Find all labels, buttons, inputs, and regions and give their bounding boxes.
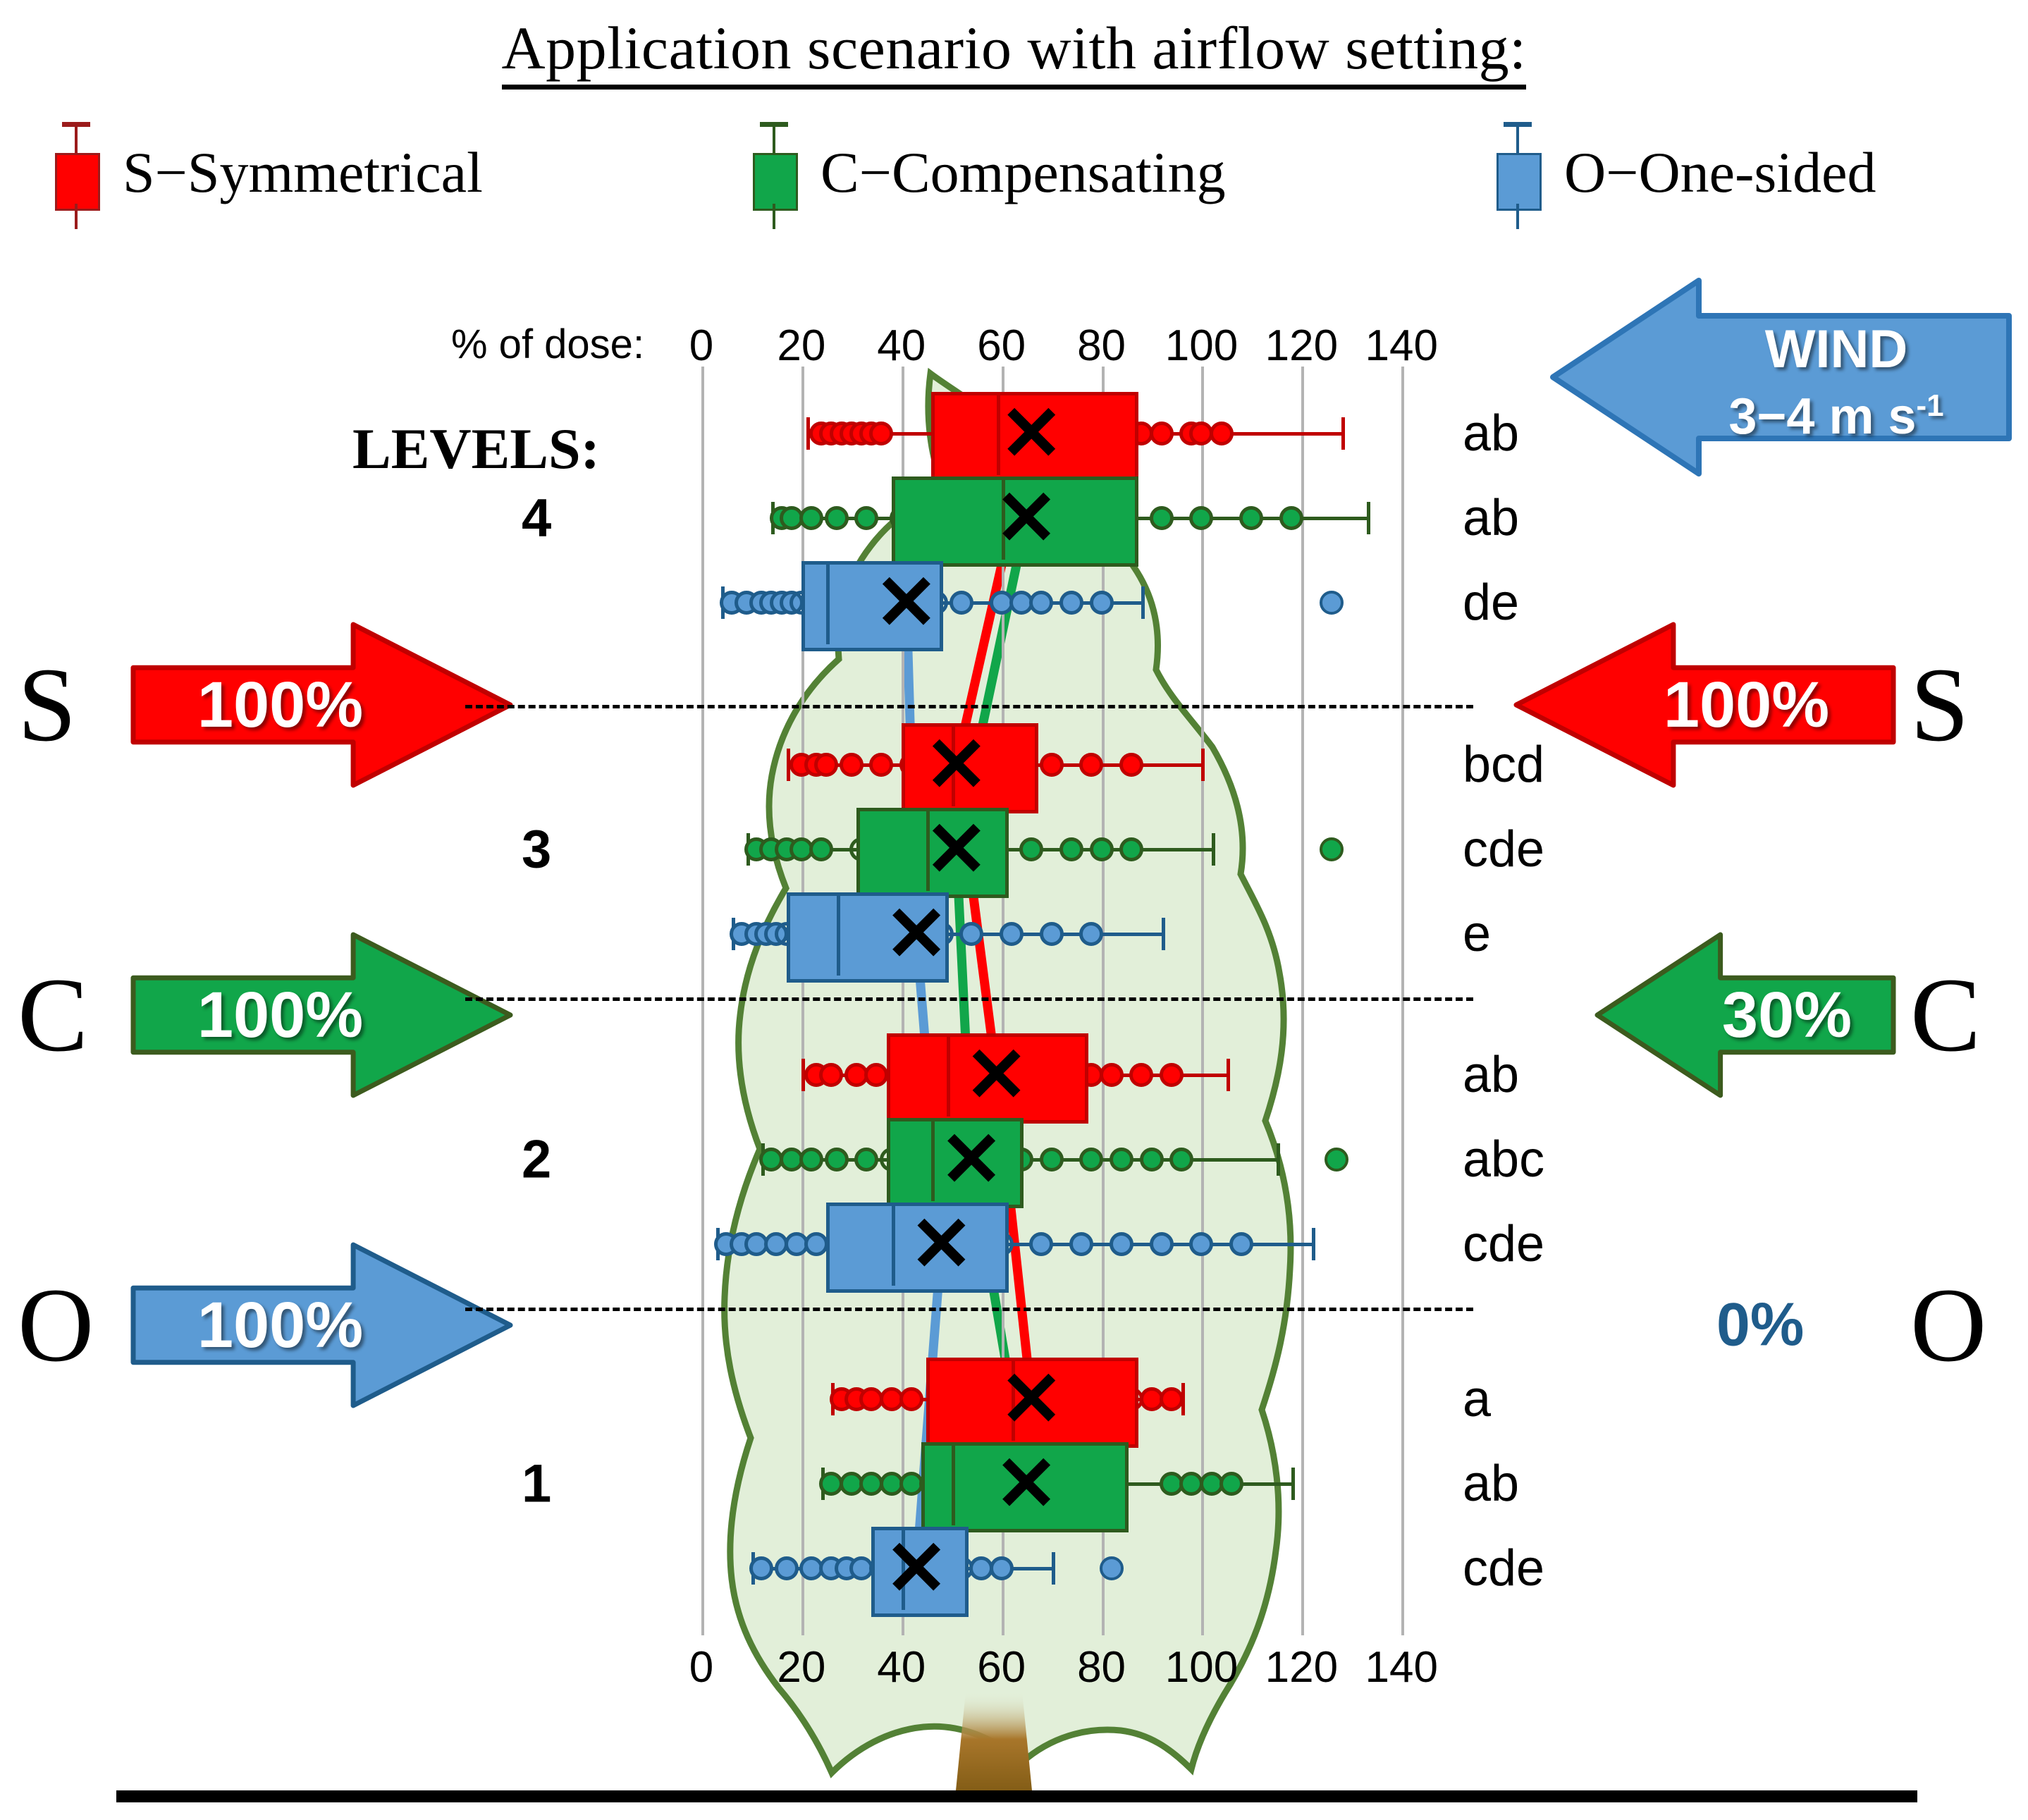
mean-marker-x: ✕ [995,1446,1059,1522]
data-point [1229,1232,1253,1256]
data-point [825,506,849,530]
whisker-cap-high [1312,1228,1315,1260]
median-line [837,892,840,976]
legend-label: C−Compensating [821,140,1226,206]
legend-item-2[interactable]: C−Compensating [747,116,1226,229]
data-point [775,1556,799,1580]
data-point [1169,1148,1193,1172]
data-point [1040,922,1064,946]
outlier-point [1325,1148,1348,1172]
significance-letters: a [1463,1370,1491,1428]
left-setting-letter-O: O [18,1265,94,1386]
data-point [1019,837,1043,861]
data-point [1079,922,1103,946]
data-point [959,922,983,946]
significance-letters: ab [1463,1455,1519,1513]
data-point [1059,591,1083,615]
mean-marker-x: ✕ [909,1206,973,1282]
level-number-3: 3 [522,819,551,880]
arrow-percent-label: 30% [1635,978,1938,1052]
axis-tick-bottom-60: 60 [977,1642,1026,1692]
mean-marker-x: ✕ [1000,395,1064,472]
right-arrow-C[interactable]: 30% [1593,930,1896,1100]
data-point [869,422,893,445]
left-arrow-group: S 100%C 100%O 100% [0,0,705,1820]
data-point [1090,837,1114,861]
data-point [990,1556,1014,1580]
mean-marker-x: ✕ [875,565,939,641]
significance-letters: abc [1463,1131,1544,1188]
data-point [825,1148,849,1172]
level-separator-3 [465,1308,1473,1311]
data-point [1000,922,1024,946]
significance-letters: cde [1463,1215,1544,1273]
whisker-cap-high [1162,918,1165,950]
wind-exponent: -1 [1917,388,1944,423]
arrow-percent-label: 100% [88,978,472,1052]
mean-marker-x: ✕ [1000,1361,1064,1437]
whisker-cap-high [1367,502,1370,534]
significance-letters: ab [1463,405,1519,462]
axis-tick-top-20: 20 [777,321,825,371]
gridline-120 [1301,367,1304,1635]
wind-label-line2: 3−4 m s-1 [1674,388,1998,445]
data-point [1219,1472,1243,1496]
data-point [749,1556,773,1580]
data-point [1210,422,1234,445]
axis-tick-bottom-120: 120 [1265,1642,1338,1692]
data-point [799,1148,823,1172]
mean-marker-x: ✕ [925,727,989,803]
axis-tick-bottom-140: 140 [1365,1642,1438,1692]
median-line [931,1118,935,1201]
level-number-2: 2 [522,1129,551,1191]
data-point [1129,1063,1153,1087]
data-point [840,753,864,777]
mean-marker-x: ✕ [925,811,989,887]
data-point [1279,506,1303,530]
axis-tick-top-100: 100 [1165,321,1238,371]
significance-letters: ab [1463,489,1519,547]
wind-speed-text: 3−4 m s [1728,388,1916,445]
significance-letters: bcd [1463,736,1544,794]
axis-tick-bottom-20: 20 [777,1642,825,1692]
data-point [1040,753,1064,777]
data-point [1140,1148,1164,1172]
data-point [950,591,973,615]
axis-tick-bottom-100: 100 [1165,1642,1238,1692]
wind-label-line1: WIND [1674,319,1998,380]
data-point [1119,837,1143,861]
data-point [1239,506,1263,530]
data-point [1090,591,1114,615]
axis-tick-top-40: 40 [877,321,926,371]
significance-letters: de [1463,574,1519,632]
boxplot-area: ✕✕✕✕✕✕✕✕✕✕✕✕ [701,367,1442,1635]
right-arrow-S[interactable]: 100% [1512,620,1896,789]
data-point [1029,1232,1053,1256]
axis-tick-top-80: 80 [1077,321,1126,371]
data-point [1040,1148,1064,1172]
left-arrow-O[interactable]: 100% [130,1241,515,1410]
right-arrow-group: S 100%C 30%O0% [1480,0,2028,1820]
data-point [1029,591,1053,615]
left-setting-letter-C: C [18,954,88,1076]
gridline-100 [1201,367,1204,1635]
whisker-cap-high [1141,586,1145,619]
gridline-20 [801,367,804,1635]
outlier-point [1100,1556,1124,1580]
mean-marker-x: ✕ [885,896,949,972]
data-point [1150,422,1174,445]
median-line [826,561,830,644]
outlier-point [1320,591,1344,615]
data-point [869,753,893,777]
data-point [1119,753,1143,777]
legend-swatch-boxplot-icon [747,116,799,229]
axis-tick-top-140: 140 [1365,321,1438,371]
data-point [1160,1387,1184,1411]
data-point [799,506,823,530]
whisker-cap-high [1227,1059,1230,1091]
axis-tick-top-120: 120 [1265,321,1338,371]
mean-marker-x: ✕ [885,1530,949,1606]
median-line [947,1033,950,1117]
data-point [1110,1232,1133,1256]
level-separator-2 [465,997,1473,1001]
data-point [1079,1148,1103,1172]
wind-arrow: WIND 3−4 m s-1 [1547,275,2012,479]
significance-letters: e [1463,905,1491,963]
whisker-cap-high [1277,1143,1280,1176]
significance-letters: cde [1463,820,1544,878]
whisker-cap-high [1212,833,1215,866]
level-number-1: 1 [522,1453,551,1515]
level-separator-1 [465,705,1473,708]
gridline-140 [1401,367,1404,1635]
whisker-cap-high [1341,417,1345,450]
left-arrow-S[interactable]: 100% [130,620,515,789]
significance-letters: cde [1463,1539,1544,1597]
arrow-percent-label: 100% [88,1289,472,1363]
data-point [864,1063,888,1087]
median-line [952,1442,955,1525]
median-line [892,1203,895,1286]
data-point [854,506,878,530]
whisker-cap-high [1201,749,1205,781]
data-point [804,1232,828,1256]
data-point [854,1148,878,1172]
right-arrow-O-zero-label: 0% [1716,1291,1804,1360]
whisker-cap-high [1291,1468,1295,1500]
data-point [1160,1063,1184,1087]
whisker-cap-high [1052,1552,1055,1585]
axis-ticks-bottom: 020406080100120140 [701,1642,1442,1692]
data-point [1059,837,1083,861]
left-setting-letter-S: S [18,644,76,765]
axis-ticks-top: 020406080100120140 [701,321,1442,363]
left-arrow-C[interactable]: 100% [130,930,515,1100]
data-point [809,837,833,861]
tree-trunk [923,1692,1064,1797]
right-setting-letter-O: O [1910,1265,1986,1386]
outlier-point [1320,837,1344,861]
data-point [899,1387,923,1411]
data-point [1079,753,1103,777]
data-point [1069,1232,1093,1256]
mean-marker-x: ✕ [940,1121,1004,1198]
data-point [1189,1232,1213,1256]
data-point [1150,1232,1174,1256]
data-point [1150,506,1174,530]
axis-tick-bottom-80: 80 [1077,1642,1126,1692]
level-number-4: 4 [522,488,551,549]
data-point [1100,1063,1124,1087]
mean-marker-x: ✕ [995,480,1059,556]
data-point [814,753,838,777]
mean-marker-x: ✕ [964,1037,1028,1113]
arrow-percent-label: 100% [88,668,472,742]
data-point [1110,1148,1133,1172]
arrow-percent-label: 100% [1554,668,1938,742]
significance-letters: ab [1463,1046,1519,1104]
axis-tick-top-60: 60 [977,321,1026,371]
ground-line [116,1790,1917,1802]
data-point [1189,506,1213,530]
axis-tick-bottom-40: 40 [877,1642,926,1692]
data-point [819,1063,843,1087]
